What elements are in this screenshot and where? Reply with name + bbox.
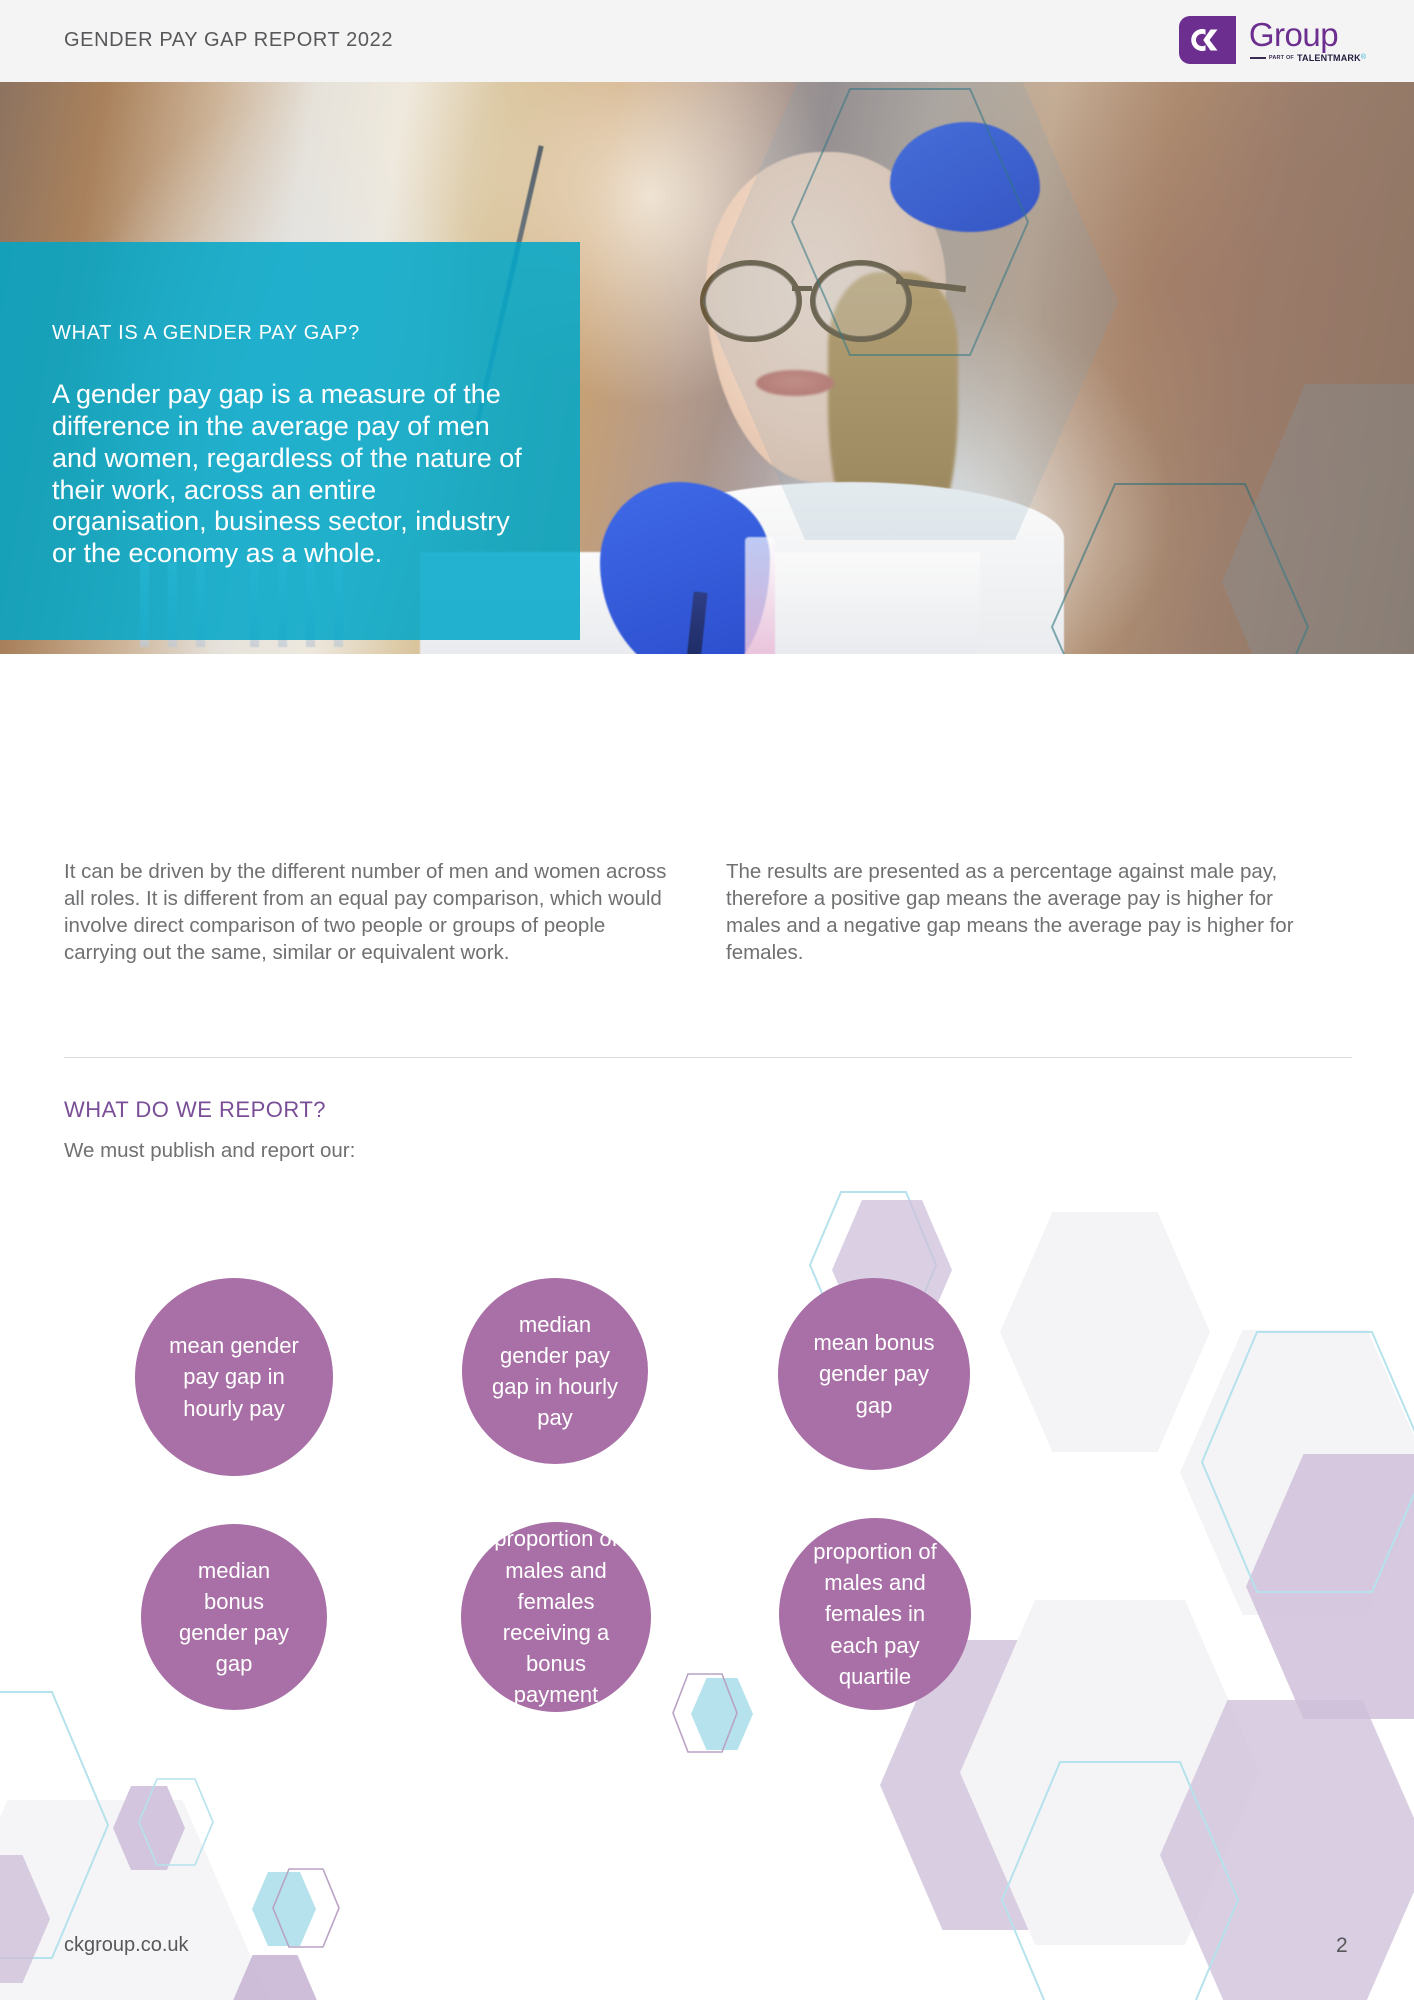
metric-circle-median-bonus-gender-pay-gap[interactable]: median bonus gender pay gap [141,1524,327,1710]
logo-talentmark-text: TALENTMARK [1297,53,1361,63]
metric-circle-proportion-receiving-bonus[interactable]: proportion of males and females receivin… [461,1522,651,1712]
metric-circle-mean-gender-pay-gap[interactable]: mean gender pay gap in hourly pay [135,1278,333,1476]
ck-monogram-icon [1179,16,1236,64]
logo-parent-line: PART OF TALENTMARK ® [1250,53,1366,63]
deco-hex-outline-teal-5 [138,1778,214,1866]
section-divider [64,1057,1352,1058]
deco-hex-outline-teal-2 [1000,1760,1240,2000]
deco-hex-lilac-large-1 [1246,1454,1414,1719]
deco-hex-grey-large-3 [960,1600,1260,1945]
hero-test-tube [745,537,775,654]
gender-pay-gap-definition-panel: WHAT IS A GENDER PAY GAP? A gender pay g… [0,242,580,640]
logo-registered-icon: ® [1361,54,1366,61]
logo-part-of-text: PART OF [1269,55,1294,61]
hero-banner: WHAT IS A GENDER PAY GAP? A gender pay g… [0,82,1414,654]
metric-circle-mean-bonus-gender-pay-gap[interactable]: mean bonus gender pay gap [778,1278,970,1470]
report-section-intro: We must publish and report our: [64,1139,355,1163]
logo-group-text: Group [1249,18,1366,51]
hero-hexagon-fill-2 [1220,382,1414,654]
deco-hex-lilac-near-circle4 [113,1786,185,1870]
intro-left-paragraph: It can be driven by the different number… [64,858,674,966]
page-number: 2 [1336,1934,1348,1958]
intro-right-paragraph: The results are presented as a percentag… [726,858,1326,966]
deco-hex-lilac-large-3 [1160,1700,1414,2000]
page-title: GENDER PAY GAP REPORT 2022 [64,29,393,52]
hero-hexagon-fill-1 [700,82,1120,542]
deco-hex-lilac-edge [0,1855,50,1983]
footer-website-url[interactable]: ckgroup.co.uk [64,1934,189,1957]
deco-hex-outline-purple-2 [672,1673,738,1753]
logo-wordmark: Group PART OF TALENTMARK ® [1249,18,1366,63]
report-page: GENDER PAY GAP REPORT 2022 Group PART OF… [0,0,1414,2000]
ck-group-logo: Group PART OF TALENTMARK ® [1179,16,1366,64]
deco-hex-grey-footer [0,1800,270,2000]
deco-hex-outline-purple-1 [272,1868,340,1948]
report-section-heading: WHAT DO WE REPORT? [64,1097,326,1123]
deco-hex-lilac-footer-tip [230,1955,320,2000]
metric-circle-proportion-pay-quartile[interactable]: proportion of males and females in each … [779,1518,971,1710]
page-header: GENDER PAY GAP REPORT 2022 Group PART OF… [0,0,1414,82]
deco-hex-teal-small-1 [252,1872,316,1946]
definition-kicker: WHAT IS A GENDER PAY GAP? [52,322,530,345]
deco-hex-outline-teal-4 [0,1690,110,1960]
deco-hex-grey-large-2 [1180,1330,1414,1615]
deco-hex-teal-small-2 [691,1678,753,1750]
deco-hex-outline-teal-1 [1200,1330,1414,1595]
definition-body: A gender pay gap is a measure of the dif… [52,379,530,570]
deco-hex-grey-large-1 [1000,1212,1210,1452]
metric-circle-median-gender-pay-gap[interactable]: median gender pay gap in hourly pay [462,1278,648,1464]
logo-dash-icon [1250,57,1266,59]
